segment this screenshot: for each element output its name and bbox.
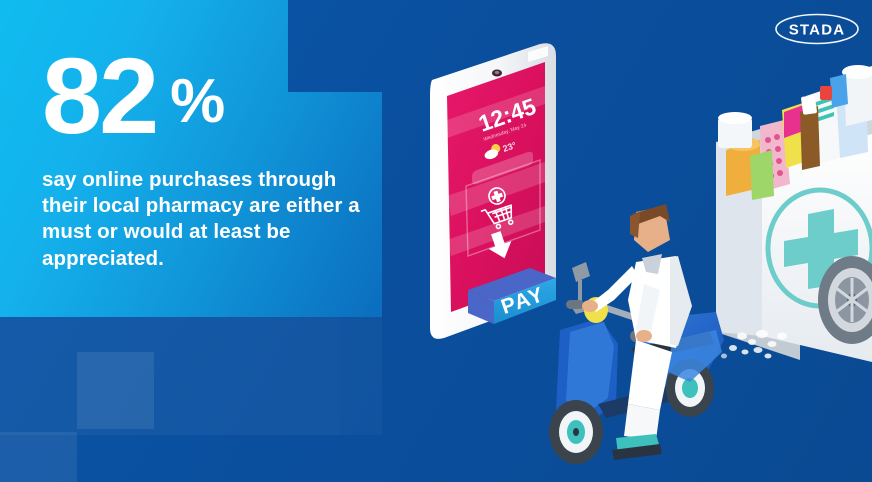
- scooter-mirror: [572, 262, 590, 282]
- infographic-canvas: 82 % say online purchases through their …: [0, 0, 872, 482]
- syrup-bottle-brown: [800, 106, 820, 170]
- courier-hand-right: [636, 330, 652, 342]
- box-green: [750, 150, 774, 200]
- pharmacy-delivery-illustration: 12:45 Wednesday, May 24 23°: [0, 0, 872, 482]
- box-blue: [830, 74, 848, 108]
- scooter-front-wheel: [549, 400, 603, 464]
- box-red: [820, 86, 832, 100]
- phone-volume-button: [430, 136, 440, 164]
- phone-power-button: [430, 168, 440, 200]
- courier-hand-left: [582, 300, 598, 312]
- pharmacy-paper-bag: [706, 65, 872, 362]
- smartphone-mockup: 12:45 Wednesday, May 24 23°: [430, 0, 556, 339]
